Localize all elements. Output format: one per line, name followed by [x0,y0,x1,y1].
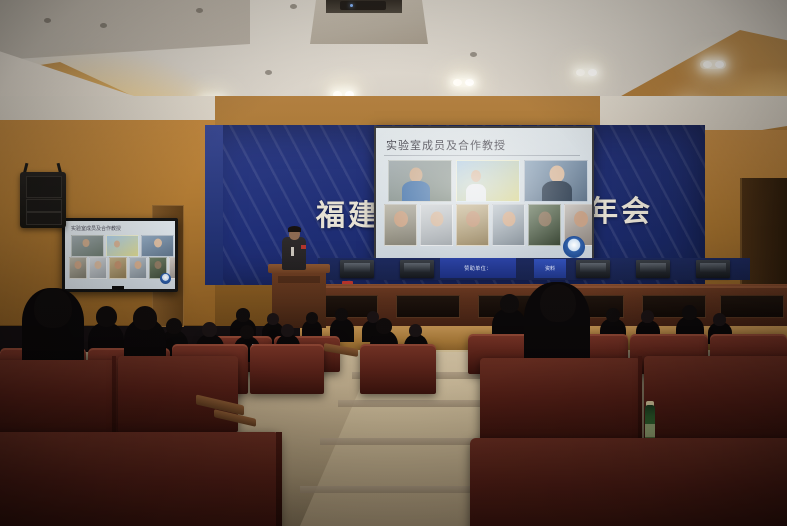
tv-photo [129,257,147,279]
slide-title: 实验室成员及合作教授 [386,137,506,153]
downlight-icon [588,69,597,76]
attendee-head [376,318,392,334]
stage-head-table: 赞助单位： 资料 [318,258,750,280]
tv-photo-row-bottom [69,257,175,279]
downlight-pair-5 [700,60,726,69]
downlight-icon [703,61,712,68]
seat-divider [276,432,282,526]
table-monitor [340,260,374,278]
presenter-lanyard-tag [301,245,306,249]
seat[interactable] [0,360,120,438]
speaker-driver-icon [26,199,62,212]
tv-photo-row-top [71,235,174,257]
ceiling-recess-icon [470,52,477,57]
slide-photo [456,204,489,246]
seat-divider [638,356,642,446]
attendee-head [713,313,726,326]
tv-slide-title: 实验室成员及合作教授 [71,225,121,232]
presenter-badge [291,247,294,256]
ceiling-recess-icon [290,4,297,9]
seat[interactable] [360,344,436,394]
bottle-label [645,424,655,437]
attendee-head [641,310,654,323]
ceiling-recess-icon [100,23,107,28]
projector-led-icon [350,4,353,7]
wall-mounted-display: 实验室成员及合作教授 [62,218,178,292]
tv-mount [112,286,124,290]
sponsor-text: 赞助单位： [464,265,492,272]
tv-photo [69,257,87,279]
screen-surface: 实验室成员及合作教授 [376,128,592,271]
attendee-head [96,306,117,327]
downlight-pair-4 [573,68,599,77]
slide-title-underline [384,155,580,156]
ceiling-projector-icon [340,1,386,10]
sponsor-placard: 赞助单位： [440,258,516,278]
tv-photo [141,235,174,257]
stage-inset-panel [720,295,784,318]
slide-photo [456,160,520,202]
attendee-head [166,318,182,334]
speaker-driver-icon [26,176,62,198]
downlight-icon [576,69,585,76]
downlight-icon [715,61,724,68]
ceiling-recess-icon [44,18,51,23]
sponsor-placard-2: 资料 [534,259,566,278]
slide-photo [384,204,417,246]
seat[interactable] [644,356,787,444]
seat[interactable] [250,344,324,394]
tv-photo [89,257,107,279]
attendee-head [500,294,519,313]
downlight-icon [465,79,474,86]
seat-divider [112,356,116,436]
attendee-head [267,313,279,325]
university-emblem-icon [563,236,585,258]
table-monitor [696,260,730,278]
presenter-body [282,237,306,270]
slide-photo-row-top [388,160,588,202]
attendee-head [34,288,72,328]
downlight-icon [453,79,462,86]
attendee-head [202,322,217,337]
slide-photo [528,204,561,246]
tv-screen-surface: 实验室成员及合作教授 [65,221,175,289]
university-emblem-icon [160,273,171,284]
ceiling-recess-icon [196,8,203,13]
podium-panel [278,276,320,283]
slide-photo [388,160,452,202]
attendee-head [409,324,422,337]
downlight-pair-3 [450,78,476,87]
table-monitor [636,260,670,278]
seat[interactable] [118,356,238,432]
attendee-head [606,308,620,322]
slide-photo [420,204,453,246]
attendee-head [306,312,318,324]
attendee-head [682,305,697,320]
attendee-head [540,284,576,322]
table-monitor [400,260,434,278]
wall-loudspeaker [20,172,66,228]
attendee-head [281,324,294,337]
speaker-driver-icon [26,212,62,225]
slide-photo [492,204,525,246]
tv-photo [71,235,104,257]
banner-edge-left [205,125,223,285]
stage-inset-panel [396,295,460,318]
tv-photo [106,235,139,257]
sponsor-text-2: 资料 [545,265,555,272]
attendee-head [335,308,348,321]
auditorium-scene: 福建省 学术年会 实验室成员及合作教授 [0,0,787,526]
seat[interactable] [470,438,787,526]
presenter-hair [288,226,301,232]
table-monitor [576,260,610,278]
attendee-head [240,325,254,339]
slide-photo [524,160,588,202]
ceiling-recess-icon [265,70,272,75]
tv-photo [109,257,127,279]
attendee-head [236,308,250,322]
seat[interactable] [480,358,640,444]
projection-screen: 实验室成员及合作教授 [374,126,594,273]
slide-photo-row-bottom [384,204,592,246]
seat[interactable] [0,432,280,526]
attendee-head [133,306,157,330]
